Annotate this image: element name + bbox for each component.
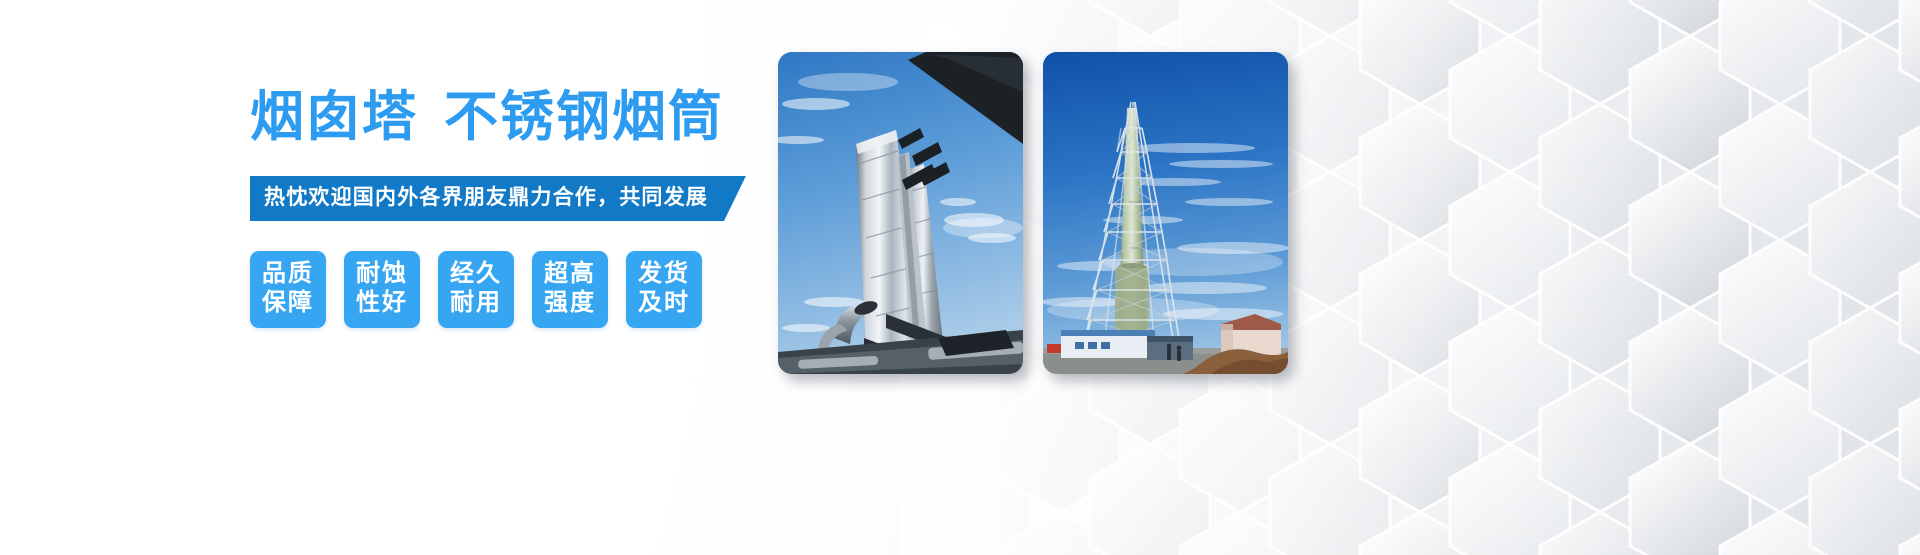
banner-copy-block: 烟囱塔不锈钢烟筒 热忱欢迎国内外各界朋友鼎力合作，共同发展 品质 保障 耐蚀 性… — [250, 86, 870, 328]
badge-line-2: 及时 — [638, 288, 690, 317]
promo-banner: 烟囱塔不锈钢烟筒 热忱欢迎国内外各界朋友鼎力合作，共同发展 品质 保障 耐蚀 性… — [0, 0, 1920, 555]
badge-line-2: 保障 — [262, 288, 314, 317]
feature-badge-corrosion-resistance[interactable]: 耐蚀 性好 — [344, 251, 420, 328]
badge-line-2: 耐用 — [450, 288, 502, 317]
badge-line-1: 耐蚀 — [356, 259, 408, 288]
badge-line-2: 性好 — [356, 288, 408, 317]
headline-part-2: 不锈钢烟筒 — [444, 87, 724, 147]
badge-line-1: 超高 — [544, 259, 596, 288]
feature-badge-high-strength[interactable]: 超高 强度 — [532, 251, 608, 328]
headline-part-1: 烟囱塔 — [250, 87, 418, 147]
badge-line-1: 经久 — [450, 259, 502, 288]
steel-lattice-chimney-tower-photo[interactable] — [1043, 52, 1288, 374]
stainless-steel-chimney-stack-photo[interactable] — [778, 52, 1023, 374]
feature-badge-fast-delivery[interactable]: 发货 及时 — [626, 251, 702, 328]
feature-badge-durability[interactable]: 经久 耐用 — [438, 251, 514, 328]
feature-badge-quality[interactable]: 品质 保障 — [250, 251, 326, 328]
badge-line-1: 品质 — [262, 259, 314, 288]
badge-line-2: 强度 — [544, 288, 596, 317]
feature-badge-list: 品质 保障 耐蚀 性好 经久 耐用 超高 强度 发货 及时 — [250, 251, 870, 328]
tagline-ribbon: 热忱欢迎国内外各界朋友鼎力合作，共同发展 — [250, 176, 746, 221]
page-title: 烟囱塔不锈钢烟筒 — [250, 86, 870, 150]
badge-line-1: 发货 — [638, 259, 690, 288]
